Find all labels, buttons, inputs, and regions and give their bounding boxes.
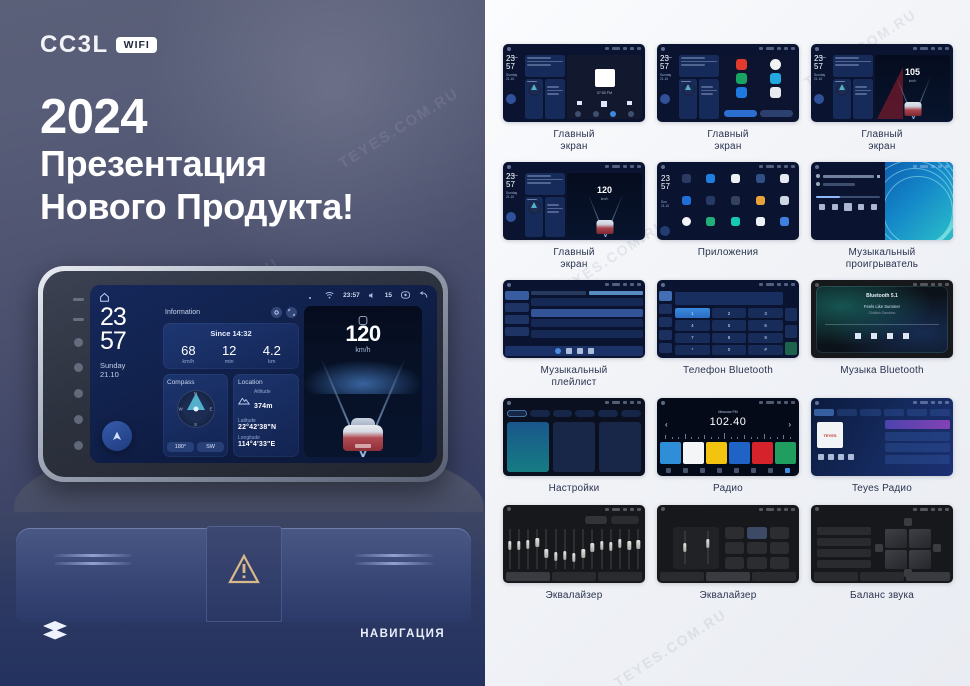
navigation-arrow-icon[interactable] — [102, 421, 132, 451]
gallery-item[interactable]: Dark Lane Demo Tapes Музыкальныйпроигрыв… — [811, 162, 953, 270]
track-title: Dark Lane Demo Tapes — [823, 175, 874, 178]
drive-assist-card[interactable]: 120 km/h — [304, 306, 422, 457]
bt-track: Feels Like Summer — [811, 304, 953, 309]
vent-line — [54, 562, 132, 565]
caption-line-1: Музыкальный — [849, 247, 916, 258]
frequency-scale[interactable] — [665, 432, 791, 439]
key-mute-icon[interactable] — [73, 298, 84, 301]
information-card[interactable]: Since 14:32 68 km/h 12 min 4.2 — [163, 323, 299, 369]
volume-icon — [369, 292, 376, 299]
dial-key[interactable]: * — [675, 345, 710, 355]
balance-up-icon[interactable] — [904, 518, 912, 526]
stat-value: 4.2 — [263, 344, 281, 357]
latitude-value: 22°42'38"N — [238, 424, 294, 431]
caption-line-1: Главный — [707, 129, 748, 140]
stat-value: 68 — [181, 344, 195, 357]
watermark: TEYES.COM.RU — [336, 85, 462, 173]
caption-line-1: Главный — [861, 129, 902, 140]
clock-date: 21.10 — [96, 370, 158, 380]
altitude-value: 374m — [254, 403, 273, 410]
headline: 2024 Презентация Нового Продукта! — [40, 92, 354, 228]
next-station-icon[interactable]: › — [788, 420, 791, 429]
preset-2[interactable] — [683, 442, 704, 464]
gallery-item[interactable]: 2357Sunday21.10 120 km/h — [503, 162, 645, 270]
gallery-item[interactable]: Эквалайзер — [657, 505, 799, 602]
gallery-panel: TEYES.COM.RU TEYES.COM.RU TEYES.COM.RU T… — [485, 0, 970, 686]
widget-column: Information Since 14:32 — [163, 306, 299, 457]
screenshot-equalizer[interactable] — [503, 505, 645, 583]
compass-dial: N E S W — [177, 390, 215, 428]
stat-unit: km/h — [181, 359, 195, 365]
screenshot-radio[interactable]: Moscow FM 102.40 ‹ › — [657, 398, 799, 476]
call-icon[interactable] — [785, 342, 797, 355]
hazard-button[interactable] — [206, 526, 282, 622]
more-setting-card[interactable] — [599, 422, 641, 472]
preset-3[interactable] — [706, 442, 727, 464]
gallery-item[interactable]: Moscow FM 102.40 ‹ › Радио — [657, 398, 799, 495]
caption-line-1: Баланс звука — [850, 590, 914, 601]
mountain-icon — [238, 392, 250, 410]
gallery-item[interactable]: 2357Sunday21.10 105 km/h — [811, 44, 953, 152]
dial-key[interactable]: 7 — [675, 333, 710, 343]
dial-key[interactable]: # — [748, 345, 783, 355]
compass-title: Compass — [167, 379, 224, 386]
caption-line-1: Teyes Радио — [852, 483, 912, 494]
compass-card[interactable]: Compass N E S W 180° SW — [163, 374, 228, 457]
compass-s: S — [194, 422, 197, 427]
screenshot-grid: 2357Sunday21.10 07:50 FM — [503, 44, 953, 601]
car-dashboard: 23:57 15 23 57 Sunday — [0, 250, 485, 686]
caption-line-1: Настройки — [549, 483, 600, 494]
screenshot-home-drive-warning[interactable]: 2357Sunday21.10 105 km/h — [811, 44, 953, 122]
head-unit-screen[interactable]: 23:57 15 23 57 Sunday — [90, 285, 437, 463]
screenshot-bluetooth-music[interactable]: Bluetooth 5.1 Feels Like Summer Childish… — [811, 280, 953, 358]
latitude-row: Latitude 22°42'38"N — [238, 418, 294, 431]
screenshot-equalizer-presets[interactable] — [657, 505, 799, 583]
caption-line-1: Музыкальный — [541, 365, 608, 376]
caption-line-1: Главный — [553, 247, 594, 258]
altitude-label: Altitude — [254, 389, 273, 395]
gallery-item[interactable]: TEYES Teyes Радио — [811, 398, 953, 495]
screenshot-apps[interactable]: 2357 Sun21.10 — [657, 162, 799, 240]
dial-key[interactable]: 4 — [675, 320, 710, 330]
dial-key[interactable]: 3 — [748, 308, 783, 318]
headline-line-2: Нового Продукта! — [40, 186, 354, 228]
expand-icon[interactable] — [286, 307, 297, 318]
longitude-value: 114°4'33"E — [238, 441, 294, 448]
back-icon[interactable] — [419, 291, 428, 299]
dial-key[interactable]: 6 — [748, 320, 783, 330]
headline-year: 2024 — [40, 92, 354, 143]
caption-line-2: проигрыватель — [846, 259, 918, 270]
gallery-item[interactable]: 2357Sunday21.10 07:50 FM — [503, 44, 645, 152]
stat-value: 12 — [222, 344, 236, 357]
stat-unit: km — [263, 359, 281, 365]
layers-icon — [42, 620, 68, 642]
key-power-icon[interactable] — [73, 318, 84, 321]
key-volume-down-icon[interactable] — [74, 415, 83, 424]
dial-key[interactable]: 8 — [712, 333, 747, 343]
key-settings-icon[interactable] — [74, 338, 83, 347]
screenshot-home-media[interactable]: 2357Sunday21.10 07:50 FM — [503, 44, 645, 122]
dial-key[interactable]: 9 — [748, 333, 783, 343]
screenshot-home-drive[interactable]: 2357Sunday21.10 120 km/h — [503, 162, 645, 240]
vent-line — [355, 562, 433, 565]
caption-line-1: Эквалайзер — [546, 590, 603, 601]
apps-icon[interactable] — [401, 291, 410, 299]
screenshot-media-player[interactable]: Dark Lane Demo Tapes — [811, 162, 953, 240]
stat-speed: 68 km/h — [181, 344, 195, 365]
clock-minutes: 57 — [96, 330, 158, 354]
navigation-label: НАВИГАЦИЯ — [360, 628, 445, 640]
caption-line-1: Эквалайзер — [700, 590, 757, 601]
lead-vehicle-icon — [343, 415, 383, 451]
preset-5[interactable] — [752, 442, 773, 464]
mini-speed-value: 105 — [875, 67, 950, 77]
caption-line-1: Музыка Bluetooth — [840, 365, 924, 376]
compass-heading: 180° — [167, 442, 194, 452]
gear-icon[interactable] — [271, 307, 282, 318]
caption-line-2: экран — [560, 259, 587, 270]
preset-6[interactable] — [775, 442, 796, 464]
preset-4[interactable] — [729, 442, 750, 464]
head-unit-side-keys[interactable] — [66, 290, 90, 458]
caption-line-1: Телефон Bluetooth — [683, 365, 773, 376]
product-logo: CC3L WIFI — [40, 33, 157, 57]
gallery-item[interactable]: 2357 Sun21.10 — [657, 162, 799, 270]
balance-left-icon[interactable] — [875, 544, 883, 552]
compass-direction: SW — [197, 442, 224, 452]
gallery-item[interactable]: Bluetooth 5.1 Feels Like Summer Childish… — [811, 280, 953, 388]
gallery-item[interactable]: Эквалайзер — [503, 505, 645, 602]
vent-line — [355, 554, 433, 557]
status-volume-value: 15 — [385, 292, 392, 299]
watermark: TEYES.COM.RU — [611, 606, 729, 686]
caption-line-2: экран — [560, 141, 587, 152]
status-clock: 23:57 — [343, 292, 360, 299]
clock-widget[interactable]: 23 57 Sunday 21.10 — [96, 306, 158, 457]
screen-content: 23 57 Sunday 21.10 Information — [96, 306, 431, 457]
preset-1[interactable] — [660, 442, 681, 464]
screenshot-home-apps[interactable]: 2357Sunday21.10 — [657, 44, 799, 122]
carplay-setting-card[interactable] — [553, 422, 595, 472]
since-label: Since 14:32 — [168, 329, 294, 338]
clock-day: Sunday — [96, 361, 158, 371]
screenshot-bluetooth-phone[interactable]: 1 2 3 4 5 6 7 8 9 * 0 # — [657, 280, 799, 358]
stat-distance: 4.2 km — [263, 344, 281, 365]
location-card[interactable]: Location Altitude 374m — [233, 374, 299, 457]
favorite-icon[interactable] — [785, 308, 797, 321]
speed-value: 120 — [304, 323, 422, 345]
caption-line-2: экран — [868, 141, 895, 152]
caption-line-2: экран — [714, 141, 741, 152]
home-icon[interactable] — [99, 290, 110, 301]
wifi-icon — [325, 292, 334, 299]
balance-right-icon[interactable] — [933, 544, 941, 552]
screenshot-settings[interactable] — [503, 398, 645, 476]
gallery-item[interactable]: 1 2 3 4 5 6 7 8 9 * 0 # Телефон Bluetoot… — [657, 280, 799, 388]
backspace-icon[interactable] — [785, 325, 797, 338]
key-home-icon[interactable] — [74, 363, 83, 372]
compass-e: E — [209, 407, 212, 412]
prev-station-icon[interactable]: ‹ — [665, 420, 668, 429]
wifi-badge: WIFI — [116, 37, 157, 54]
caption-line-1: Радио — [713, 483, 743, 494]
compass-w: W — [179, 407, 183, 412]
dial-key[interactable]: 2 — [712, 308, 747, 318]
headline-line-1: Презентация — [40, 143, 354, 185]
speed-unit: km/h — [304, 347, 422, 354]
bt-artist: Childish Gambino — [811, 311, 953, 315]
wifi-setting-card[interactable] — [507, 422, 549, 472]
compass-center-dot — [193, 407, 198, 412]
hazard-triangle-icon — [206, 526, 282, 622]
gallery-item[interactable]: 2357Sunday21.10 — [657, 44, 799, 152]
dial-key[interactable]: 5 — [712, 320, 747, 330]
caption-line-1: Главный — [553, 129, 594, 140]
caption-line-2: плейлист — [551, 377, 596, 388]
dial-key[interactable]: 0 — [712, 345, 747, 355]
screenshot-sound-balance[interactable] — [811, 505, 953, 583]
stat-time: 12 min — [222, 344, 236, 365]
compass-n: N — [194, 391, 197, 396]
screenshot-teyes-radio[interactable]: TEYES — [811, 398, 953, 476]
information-header: Information — [163, 306, 299, 318]
key-volume-up-icon[interactable] — [74, 441, 83, 450]
information-title: Information — [165, 309, 200, 316]
mini-speed-value: 120 — [567, 185, 642, 195]
hero-panel: TEYES.COM.RU TEYES.COM.RU TEYES.COM.RU C… — [0, 0, 485, 686]
vent-line — [54, 554, 132, 557]
logo-text: CC3L — [40, 33, 109, 57]
radio-frequency: 102.40 — [657, 416, 799, 428]
caption-line-1: Приложения — [698, 247, 759, 258]
gallery-item[interactable]: Баланс звука — [811, 505, 953, 602]
gallery-item[interactable]: Музыкальныйплейлист — [503, 280, 645, 388]
gallery-item[interactable]: Настройки — [503, 398, 645, 495]
signal-icon — [309, 292, 316, 299]
longitude-row: Longitude 114°4'33"E — [238, 435, 294, 448]
stat-unit: min — [222, 359, 236, 365]
status-bar: 23:57 15 — [90, 285, 437, 305]
radio-band: Moscow FM — [657, 410, 799, 414]
road-glow — [304, 360, 422, 394]
screenshot-playlist[interactable] — [503, 280, 645, 358]
location-title: Location — [238, 379, 294, 386]
bt-title: Bluetooth 5.1 — [811, 293, 953, 299]
key-back-icon[interactable] — [74, 389, 83, 398]
dial-key[interactable]: 1 — [675, 308, 710, 318]
